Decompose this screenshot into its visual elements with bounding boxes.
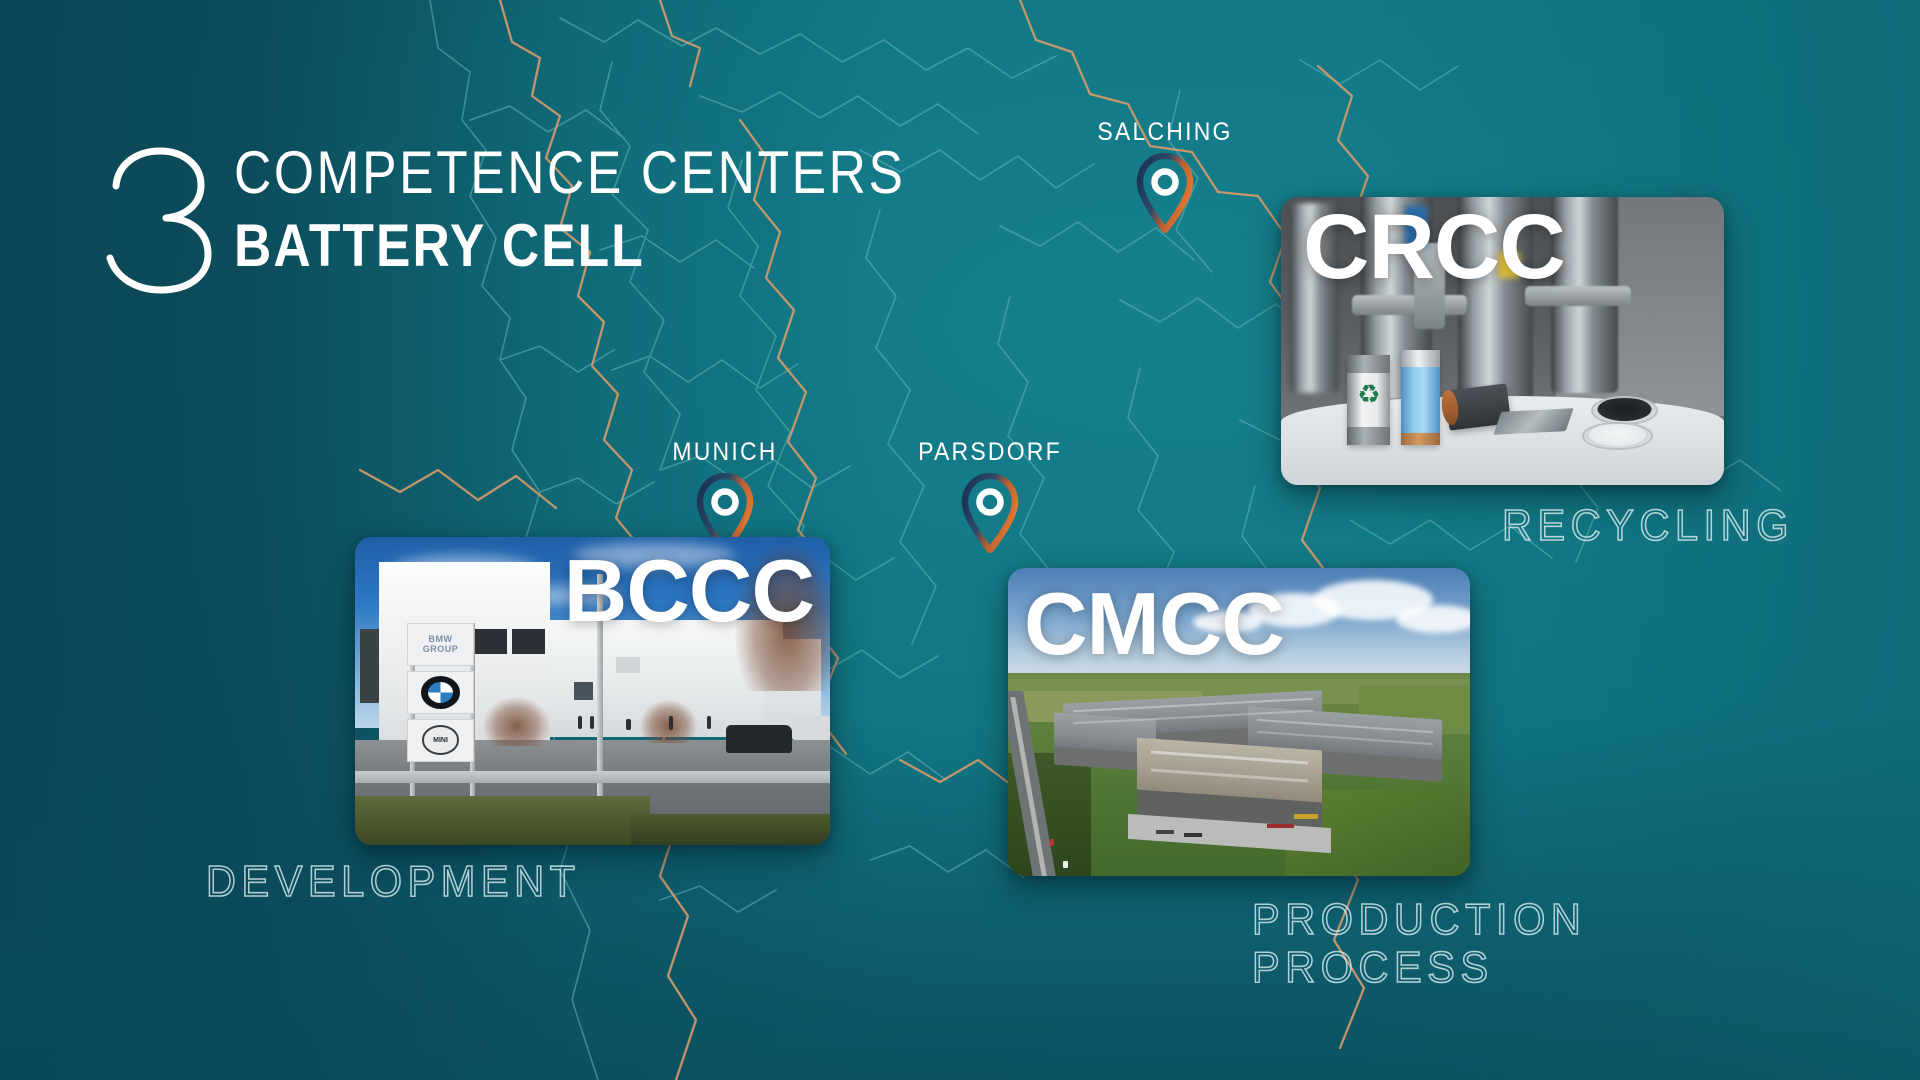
mini-sign: MINI: [407, 719, 474, 762]
sign-line-2: GROUP: [423, 644, 459, 654]
card-acronym-cmcc: CMCC: [1024, 580, 1284, 668]
map-pin-icon: [1134, 153, 1196, 233]
mini-brand-label: MINI: [433, 737, 448, 744]
headline-block: COMPETENCE CENTERS BATTERY CELL: [104, 140, 1015, 294]
pin-label-salching: SALCHING: [1087, 118, 1243, 147]
bmw-group-sign: BMW GROUP: [407, 623, 474, 666]
pin-salching[interactable]: SALCHING: [1080, 118, 1250, 233]
pin-label-parsdorf: PARSDORF: [898, 438, 1082, 467]
pin-parsdorf[interactable]: PARSDORF: [890, 438, 1090, 553]
infographic-canvas: COMPETENCE CENTERS BATTERY CELL SALCHING…: [0, 0, 1920, 1080]
card-acronym-crcc: CRCC: [1303, 201, 1565, 293]
map-pin-icon: [959, 473, 1021, 553]
headline-line-2: BATTERY CELL: [234, 215, 905, 276]
recycle-icon: ♻: [1357, 381, 1380, 407]
bmw-roundel-sign: [407, 671, 474, 714]
caption-development: DEVELOPMENT: [206, 858, 581, 906]
caption-production-process: PRODUCTION PROCESS: [1252, 896, 1586, 991]
headline-line-1: COMPETENCE CENTERS: [234, 144, 905, 203]
pin-munich[interactable]: MUNICH: [645, 438, 805, 553]
card-cmcc[interactable]: CMCC: [1008, 568, 1470, 876]
pin-label-munich: MUNICH: [651, 438, 798, 467]
numeral-three-outline: [104, 146, 216, 294]
caption-recycling: RECYCLING: [1502, 502, 1794, 550]
mini-logo-icon: MINI: [422, 725, 459, 755]
card-crcc[interactable]: ♻ CRCC: [1281, 197, 1724, 485]
card-bccc[interactable]: BMW GROUP MINI: [355, 537, 830, 845]
bmw-roundel-icon: [421, 676, 461, 710]
card-acronym-bccc: BCCC: [564, 547, 814, 635]
